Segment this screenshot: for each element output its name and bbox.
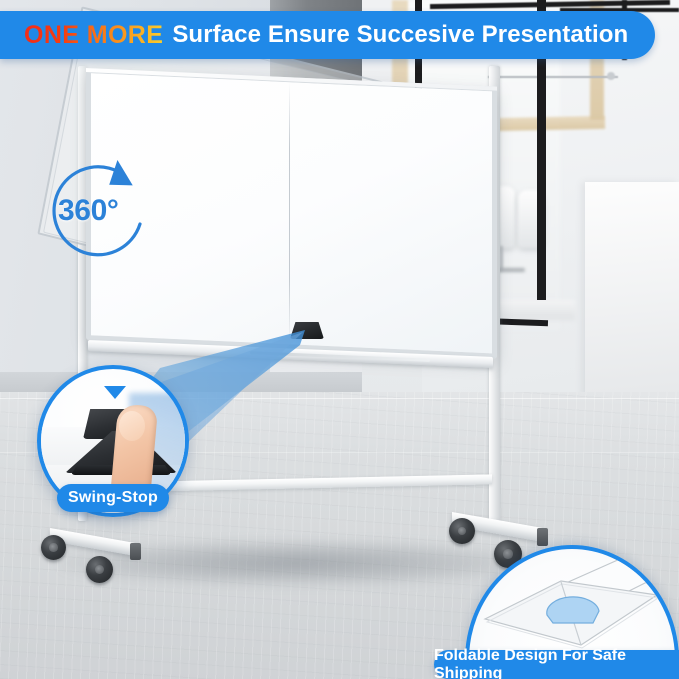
folded-board-icon <box>469 549 675 660</box>
whiteboard-center-seam <box>289 82 290 344</box>
foldable-design-label: Foldable Design For Safe Shipping <box>434 650 679 679</box>
rail-end-knob <box>607 72 615 80</box>
white-cabinet <box>585 182 679 397</box>
fingertip-highlight <box>119 411 145 441</box>
foldable-design-inset <box>465 545 679 660</box>
triangle-down-icon <box>104 386 126 399</box>
caster-wheel <box>86 556 113 583</box>
top-banner: ONE MORE Surface Ensure Succesive Presen… <box>0 11 655 59</box>
ceiling-rail <box>488 76 618 78</box>
banner-main-text: Surface Ensure Succesive Presentation <box>172 21 628 49</box>
product-feature-image: 360° Swing-Stop Foldable Design For S <box>0 0 679 679</box>
foot-end-cap-left <box>130 543 141 560</box>
swing-stop-pedal <box>290 322 324 339</box>
swing-stop-label: Swing-Stop <box>57 484 169 512</box>
caster-wheel <box>449 518 475 544</box>
rotation-callout: 360° <box>42 150 177 265</box>
rotation-degrees-label: 360° <box>58 194 118 228</box>
foot-end-cap-right <box>537 528 548 546</box>
banner-accent-text: ONE MORE <box>24 21 163 50</box>
caster-wheel <box>41 535 66 560</box>
